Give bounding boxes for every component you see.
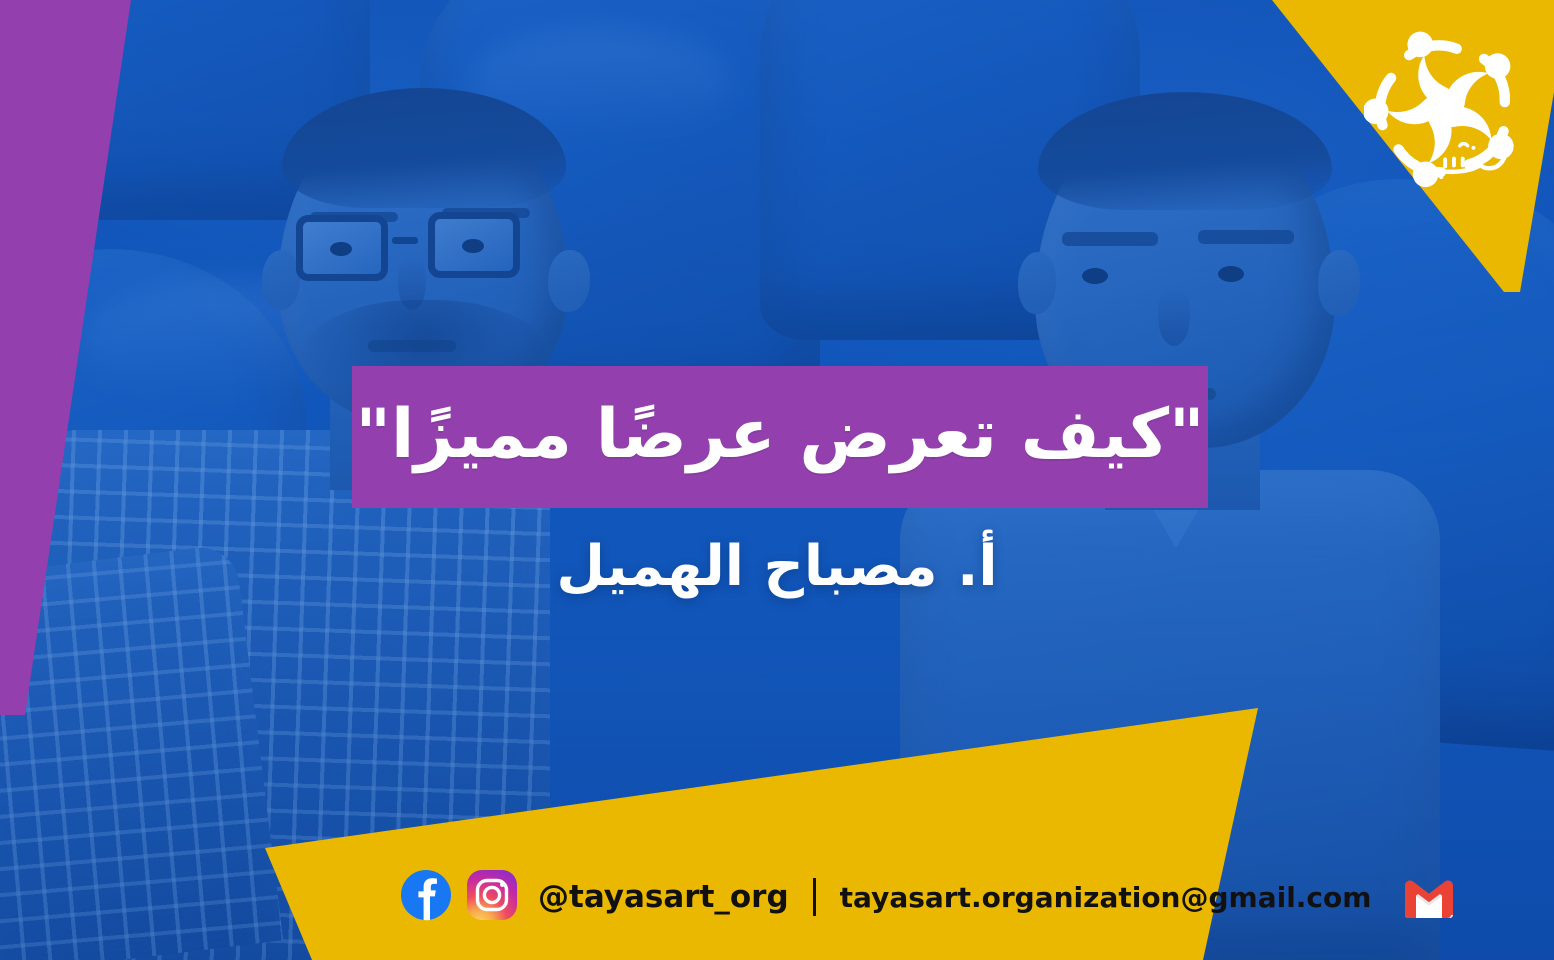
email-address[interactable]: tayasart.organization@gmail.com [840, 881, 1372, 914]
poster-canvas: "كيف تعرض عرضًا مميزًا" أ. مصباح الهميل [0, 0, 1554, 960]
instagram-icon[interactable] [466, 869, 518, 925]
facebook-icon[interactable] [400, 869, 452, 925]
page-title: "كيف تعرض عرضًا مميزًا" [356, 401, 1205, 469]
separator-divider [813, 878, 816, 916]
title-banner: "كيف تعرض عرضًا مميزًا" [352, 366, 1208, 508]
gmail-icon[interactable] [1401, 875, 1457, 919]
footer-contact-bar: @tayasart_org tayasart.organization@gmai… [400, 866, 1457, 928]
logo-wordmark [1386, 138, 1516, 182]
speaker-name: أ. مصباح الهميل [0, 536, 1554, 598]
social-handle[interactable]: @tayasart_org [538, 879, 789, 915]
